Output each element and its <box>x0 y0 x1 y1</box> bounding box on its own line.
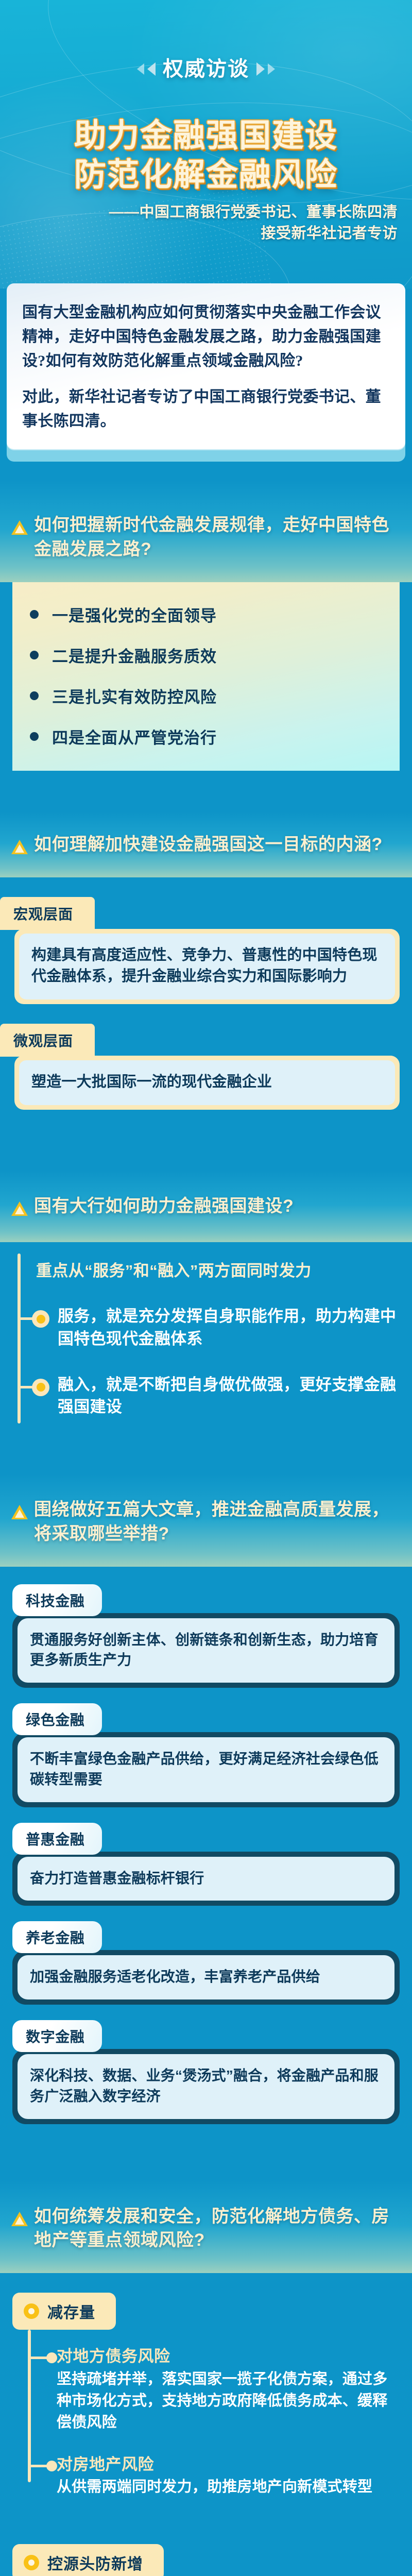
risk-group-label: 控源头防新增 <box>47 2551 143 2574</box>
timeline-node-icon <box>32 1310 49 1328</box>
risk-group-pill: 控源头防新增 <box>12 2544 164 2576</box>
triangle-bullet-icon <box>11 840 28 854</box>
triangle-bullet-icon <box>11 1201 28 1216</box>
question-block-1: 如何把握新时代金融发展规律，走好中国特色金融发展之路? <box>0 480 412 582</box>
article-card-frame: 加强金融服务适老化改造，丰富养老产品供给 <box>12 1950 400 2005</box>
subtitle-line-1: ——中国工商银行党委书记、董事长陈四清 <box>8 202 398 223</box>
infographic-page: 权威访谈 助力金融强国建设 防范化解金融风险 ——中国工商银行党委书记、董事长陈… <box>0 0 412 2576</box>
level-tab-label: 宏观层面 <box>0 897 95 930</box>
level-card-micro: 微观层面 塑造一大批国际一流的现代金融企业 <box>12 1024 400 1110</box>
article-tab-label: 科技金融 <box>12 1584 102 1616</box>
article-card-inclusive-finance: 普惠金融 奋力打造普惠金融标杆银行 <box>12 1823 400 1906</box>
triangle-bullet-icon <box>11 520 28 535</box>
page-subtitle: ——中国工商银行党委书记、董事长陈四清 接受新华社记者专访 <box>8 202 398 244</box>
question-1-text: 如何把握新时代金融发展规律，走好中国特色金融发展之路? <box>34 513 400 562</box>
risk-tree: 对地方债务风险 坚持疏堵并举，落实国家一揽子化债方案，通过多种市场化方式，支持地… <box>12 2330 400 2498</box>
kicker-label: 权威访谈 <box>163 59 249 79</box>
article-card-green-finance: 绿色金融 不断丰富绿色金融产品供给，更好满足经济社会绿色低碳转型需要 <box>12 1703 400 1807</box>
intro-paragraph-2: 对此，新华社记者专访了中国工商银行党委书记、董事长陈四清。 <box>22 385 390 434</box>
right-arrow-outer-icon <box>268 63 275 75</box>
answer-section-1: 一是强化党的全面领导 二是提升金融服务质效 三是扎实有效防控风险 四是全面从严管… <box>0 582 412 771</box>
risk-item-heading: 对地方债务风险 <box>57 2346 400 2367</box>
timeline-item-text: 融入，就是不断把自身做优做强，更好支撑金融强国建设 <box>58 1374 400 1418</box>
article-tab-label: 养老金融 <box>12 1921 102 1953</box>
level-card-macro: 宏观层面 构建具有高度适应性、竞争力、普惠性的中国特色现代金融体系，提升金融业综… <box>12 897 400 1004</box>
article-card-digital-finance: 数字金融 深化科技、数据、业务“煲汤式”融合，将金融产品和服务广泛融入数字经济 <box>12 2020 400 2124</box>
article-body-text: 奋力打造普惠金融标杆银行 <box>18 1857 394 1901</box>
answer-section-2: 宏观层面 构建具有高度适应性、竞争力、普惠性的中国特色现代金融体系，提升金融业综… <box>0 877 412 1110</box>
article-card-frame: 不断丰富绿色金融产品供给，更好满足经济社会绿色低碳转型需要 <box>12 1732 400 1807</box>
left-arrow-outer-icon <box>137 63 144 75</box>
kicker-banner: 权威访谈 <box>0 59 412 79</box>
bullet-label: 三是扎实有效防控风险 <box>52 684 217 707</box>
answer-section-4: 科技金融 贯通服务好创新主体、创新链条和创新生态，助力培育更多新质生产力 绿色金… <box>0 1567 412 2124</box>
timeline-item: 融入，就是不断把自身做优做强，更好支撑金融强国建设 <box>12 1374 400 1418</box>
level-card-frame: 构建具有高度适应性、竞争力、普惠性的中国特色现代金融体系，提升金融业综合实力和国… <box>14 929 400 1004</box>
risk-branch-tip-icon <box>46 2461 57 2471</box>
ring-bullet-icon <box>24 2303 39 2319</box>
triangle-bullet-icon <box>11 2212 28 2226</box>
intro-card-wrapper: 国有大型金融机构应如何贯彻落实中央金融工作会议精神，走好中国特色金融发展之路，助… <box>0 283 412 449</box>
timeline-node-icon <box>32 1379 49 1396</box>
list-item: 三是扎实有效防控风险 <box>30 684 382 707</box>
question-2-text: 如何理解加快建设金融强国这一目标的内涵? <box>34 833 383 857</box>
article-tab-label: 数字金融 <box>12 2020 102 2052</box>
list-item: 二是提升金融服务质效 <box>30 643 382 667</box>
article-card-frame: 奋力打造普惠金融标杆银行 <box>12 1852 400 1906</box>
question-4-text: 围绕做好五篇大文章，推进金融高质量发展，将采取哪些举措? <box>34 1498 400 1546</box>
risk-group-control-source: 控源头防新增 强化业务“一盘棋”统筹、风险“一本账”管理，切实把防范化解风险任务… <box>0 2544 412 2576</box>
risk-group-label: 减存量 <box>47 2300 95 2323</box>
article-tab-label: 普惠金融 <box>12 1823 102 1855</box>
article-body-text: 加强金融服务适老化改造，丰富养老产品供给 <box>18 1955 394 1999</box>
question-block-5: 如何统筹发展和安全，防范化解地方债务、房地产等重点领域风险? <box>0 2181 412 2274</box>
question-3-text: 国有大行如何助力金融强国建设? <box>34 1194 294 1218</box>
article-tab-label: 绿色金融 <box>12 1703 102 1735</box>
risk-item-text: 坚持疏堵并举，落实国家一揽子化债方案，通过多种市场化方式，支持地方政府降低债务成… <box>57 2368 400 2434</box>
risk-group-pill: 减存量 <box>12 2293 116 2330</box>
question-5-text: 如何统筹发展和安全，防范化解地方债务、房地产等重点领域风险? <box>34 2205 400 2253</box>
intro-paragraph-1: 国有大型金融机构应如何贯彻落实中央金融工作会议精神，走好中国特色金融发展之路，助… <box>22 301 390 373</box>
bullet-label: 二是提升金融服务质效 <box>52 643 217 667</box>
risk-group-reduce-stock: 减存量 对地方债务风险 坚持疏堵并举，落实国家一揽子化债方案，通过多种市场化方式… <box>0 2293 412 2498</box>
article-card-pension-finance: 养老金融 加强金融服务适老化改造，丰富养老产品供给 <box>12 1921 400 2005</box>
spacer <box>0 1433 412 1474</box>
list-item: 四是全面从严管党治行 <box>30 725 382 748</box>
dot-bullet-icon <box>30 732 39 741</box>
spacer <box>0 1129 412 1171</box>
article-body-text: 深化科技、数据、业务“煲汤式”融合，将金融产品和服务广泛融入数字经济 <box>18 2054 394 2119</box>
title-line-1: 助力金融强国建设 <box>0 116 412 156</box>
question-block-2: 如何理解加快建设金融强国这一目标的内涵? <box>0 812 412 877</box>
article-card-frame: 深化科技、数据、业务“煲汤式”融合，将金融产品和服务广泛融入数字经济 <box>12 2049 400 2124</box>
answer-section-3: 重点从“服务”和“融入”两方面同时发力 服务，就是充分发挥自身职能作用，助力构建… <box>0 1242 412 1433</box>
risk-item-heading: 对房地产风险 <box>57 2454 400 2475</box>
risk-item-text: 从供需两端同时发力，助推房地产向新模式转型 <box>57 2476 400 2498</box>
level-body-text: 塑造一大批国际一流的现代金融企业 <box>19 1060 395 1105</box>
level-body-text: 构建具有高度适应性、竞争力、普惠性的中国特色现代金融体系，提升金融业综合实力和国… <box>19 934 395 999</box>
timeline-services: 重点从“服务”和“融入”两方面同时发力 服务，就是充分发挥自身职能作用，助力构建… <box>0 1242 412 1433</box>
answer-section-5: 减存量 对地方债务风险 坚持疏堵并举，落实国家一揽子化债方案，通过多种市场化方式… <box>0 2273 412 2576</box>
timeline-item-text: 服务，就是充分发挥自身职能作用，助力构建中国特色现代金融体系 <box>58 1305 400 1350</box>
answer-card-1: 一是强化党的全面领导 二是提升金融服务质效 三是扎实有效防控风险 四是全面从严管… <box>12 582 400 771</box>
ring-bullet-icon <box>24 2555 39 2570</box>
subtitle-line-2: 接受新华社记者专访 <box>8 223 398 244</box>
risk-branch-tip-icon <box>46 2352 57 2363</box>
spacer <box>0 2140 412 2181</box>
dot-bullet-icon <box>30 610 39 619</box>
article-card-tech-finance: 科技金融 贯通服务好创新主体、创新链条和创新生态，助力培育更多新质生产力 <box>12 1584 400 1688</box>
intro-card: 国有大型金融机构应如何贯彻落实中央金融工作会议精神，走好中国特色金融发展之路，助… <box>7 283 405 449</box>
left-arrow-inner-icon <box>147 62 156 76</box>
triangle-bullet-icon <box>11 1505 28 1519</box>
bullet-label: 一是强化党的全面领导 <box>52 603 217 626</box>
spacer <box>0 2515 412 2544</box>
level-card-frame: 塑造一大批国际一流的现代金融企业 <box>14 1056 400 1110</box>
dot-bullet-icon <box>30 651 39 659</box>
page-title: 助力金融强国建设 防范化解金融风险 <box>0 116 412 194</box>
article-card-frame: 贯通服务好创新主体、创新链条和创新生态，助力培育更多新质生产力 <box>12 1613 400 1688</box>
right-arrow-inner-icon <box>256 62 265 76</box>
dot-bullet-icon <box>30 691 39 700</box>
hero-banner: 权威访谈 助力金融强国建设 防范化解金融风险 ——中国工商银行党委书记、董事长陈… <box>0 0 412 289</box>
article-body-text: 贯通服务好创新主体、创新链条和创新生态，助力培育更多新质生产力 <box>18 1618 394 1683</box>
bullet-label: 四是全面从严管党治行 <box>52 725 217 748</box>
timeline-item: 服务，就是充分发挥自身职能作用，助力构建中国特色现代金融体系 <box>12 1305 400 1350</box>
article-body-text: 不断丰富绿色金融产品供给，更好满足经济社会绿色低碳转型需要 <box>18 1737 394 1802</box>
list-item: 一是强化党的全面领导 <box>30 603 382 626</box>
timeline-lead-text: 重点从“服务”和“融入”两方面同时发力 <box>36 1260 400 1282</box>
risk-item: 对地方债务风险 坚持疏堵并举，落实国家一揽子化债方案，通过多种市场化方式，支持地… <box>12 2346 400 2433</box>
question-block-3: 国有大行如何助力金融强国建设? <box>0 1171 412 1242</box>
level-tab-label: 微观层面 <box>0 1024 95 1057</box>
risk-item: 对房地产风险 从供需两端同时发力，助推房地产向新模式转型 <box>12 2454 400 2498</box>
title-line-2: 防范化解金融风险 <box>0 156 412 195</box>
question-block-4: 围绕做好五篇大文章，推进金融高质量发展，将采取哪些举措? <box>0 1474 412 1567</box>
spacer <box>0 771 412 812</box>
